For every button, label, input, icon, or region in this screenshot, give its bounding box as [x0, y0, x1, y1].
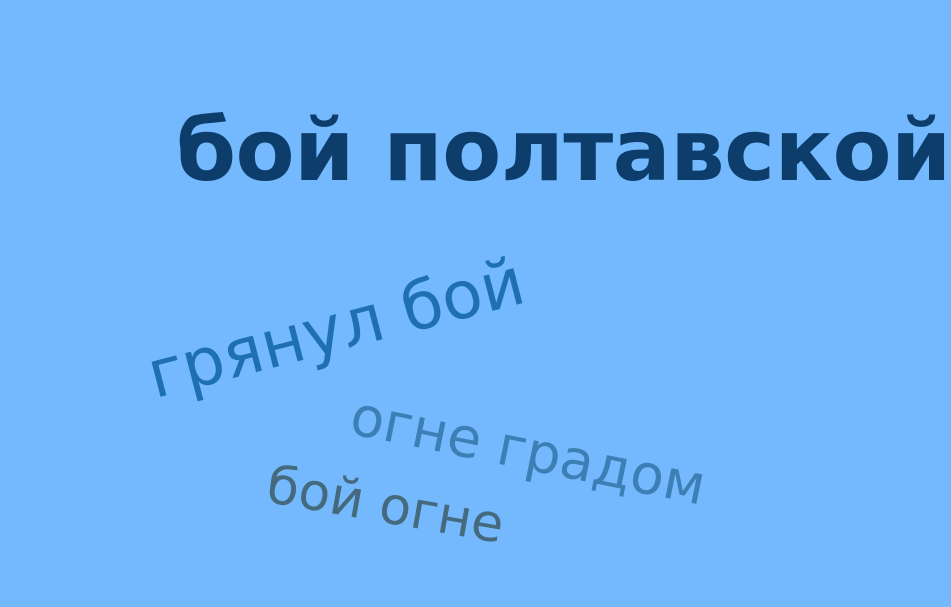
cloud-word-1: бой полтавской [176, 108, 951, 194]
cloud-word-2: грянул бой [141, 248, 531, 408]
word-cloud-canvas: бой полтавской грянул бой огне градом бо… [0, 0, 951, 607]
cloud-word-4: бой огне [263, 459, 508, 552]
